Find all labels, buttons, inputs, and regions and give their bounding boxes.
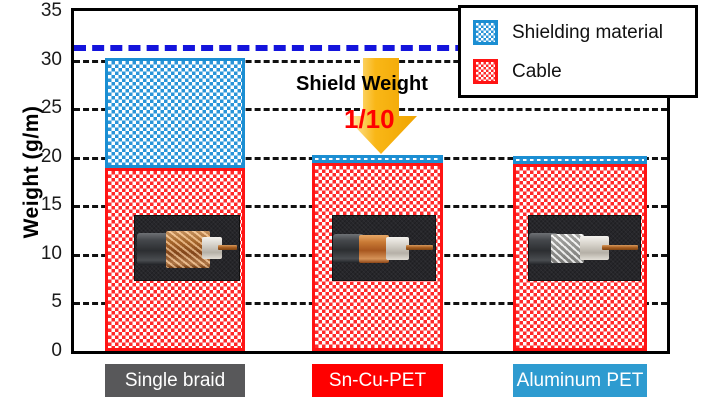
annotation-value: 1/10	[344, 104, 395, 135]
chart-figure: Weight (g/m) 05101520253035 Shield Weigh…	[0, 0, 702, 404]
category-label-single-braid: Single braid	[105, 364, 245, 397]
bar-single-braid	[105, 58, 245, 351]
y-tick-25: 25	[2, 97, 62, 119]
bar-segment-shielding-material	[513, 156, 647, 164]
aluminum-pet-cable-photo	[529, 216, 640, 280]
y-tick-30: 30	[2, 49, 62, 71]
y-tick-35: 35	[2, 0, 62, 22]
y-tick-0: 0	[2, 340, 62, 362]
bar-segment-shielding-material	[312, 155, 443, 163]
bar-segment-shielding-material	[105, 58, 245, 169]
legend-swatch-cable	[473, 59, 498, 84]
annotation-title: Shield Weight	[296, 73, 428, 96]
legend-swatch-shielding-material	[473, 20, 498, 45]
y-tick-15: 15	[2, 194, 62, 216]
y-tick-10: 10	[2, 243, 62, 265]
sn-cu-pet-cable-photo	[333, 216, 435, 280]
y-tick-20: 20	[2, 146, 62, 168]
legend-item-shielding-material: Shielding material	[473, 20, 663, 45]
legend-label-cable: Cable	[512, 61, 562, 83]
y-tick-5: 5	[2, 291, 62, 313]
category-label-sn-cu-pet: Sn-Cu-PET	[312, 364, 443, 397]
legend-item-cable: Cable	[473, 59, 562, 84]
single-braid-cable-photo	[135, 216, 239, 280]
category-label-aluminum-pet: Aluminum PET	[513, 364, 647, 397]
legend: Shielding material Cable	[458, 5, 698, 98]
legend-label-shielding-material: Shielding material	[512, 22, 663, 44]
